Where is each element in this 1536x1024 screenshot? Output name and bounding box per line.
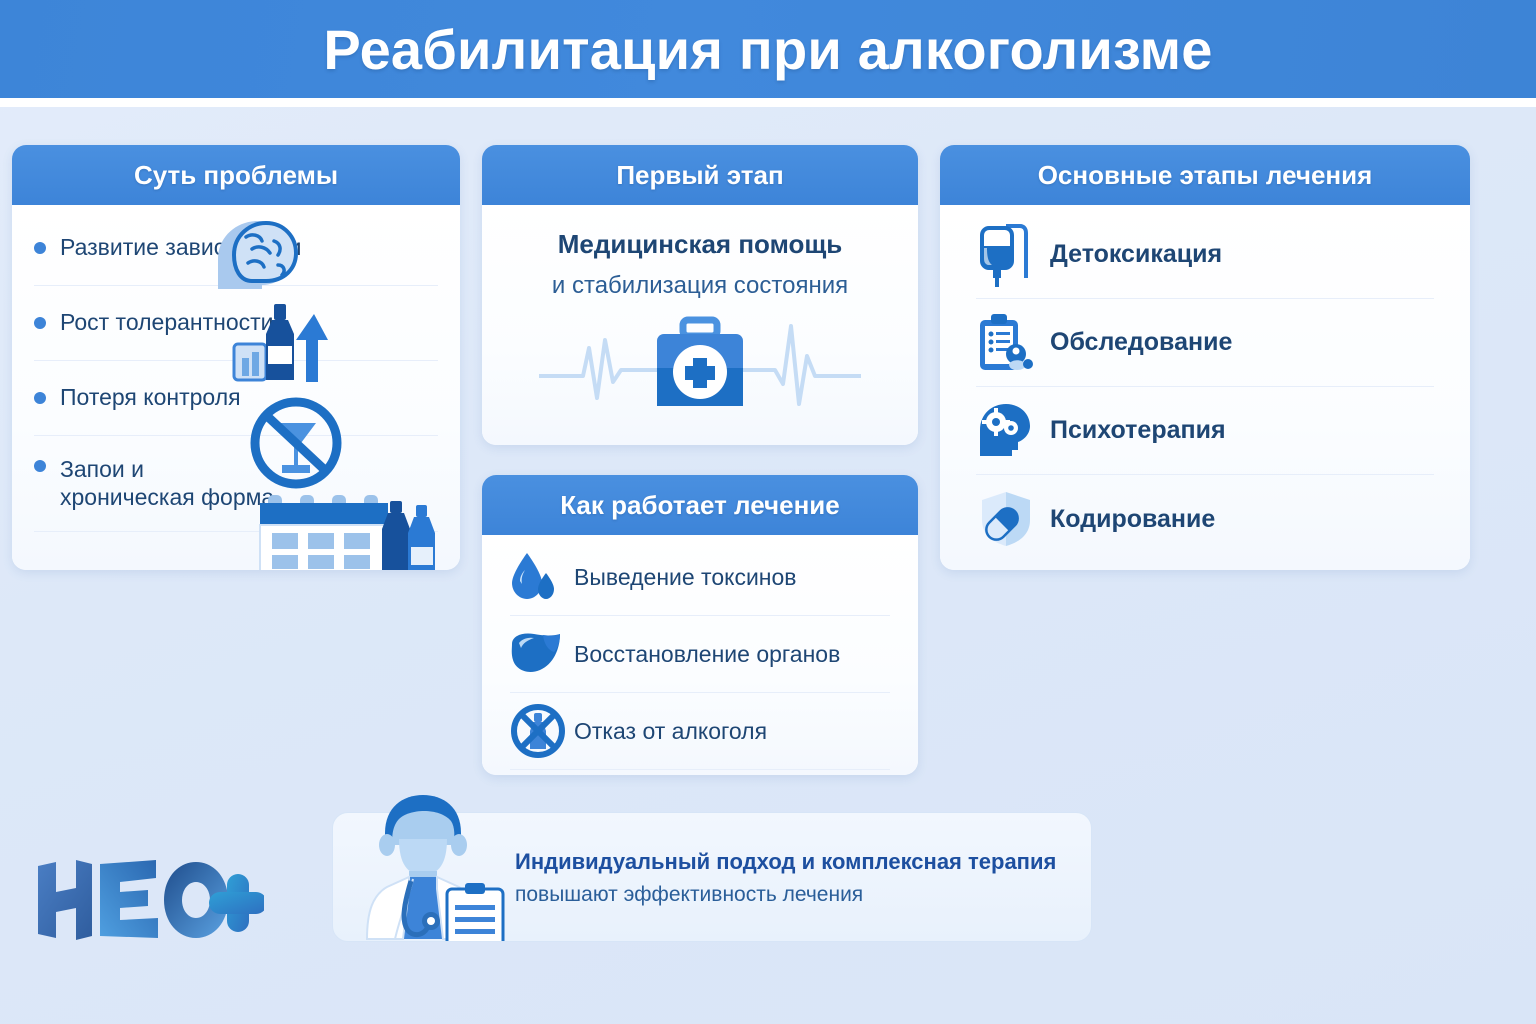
list-item[interactable]: Отказ от алкоголя [510,693,890,770]
list-item-label: Восстановление органов [574,641,840,668]
bottom-banner: Индивидуальный подход и комплексная тера… [332,812,1092,942]
list-item[interactable]: Восстановление органов [510,616,890,693]
bullet-icon [34,242,46,254]
head-gears-icon [976,402,1050,460]
card-problem-header: Суть проблемы [12,145,460,205]
liver-icon [510,632,568,676]
bullet-icon [34,460,46,472]
card-first-stage-body: Медицинская помощь и стабилизация состоя… [482,205,918,445]
how-it-works-list: Выведение токсинов Восстановление органо… [482,535,918,774]
card-main-stages-title: Основные этапы лечения [1038,160,1373,191]
card-problem-body: Развитие зависимости Рост толерантности … [12,205,460,570]
bullet-icon [34,392,46,404]
list-item[interactable]: Развитие зависимости [34,211,438,286]
list-item[interactable]: Выведение токсинов [510,539,890,616]
list-item-label: Запои и хроническая форма [60,456,274,511]
banner-text: Индивидуальный подход и комплексная тера… [515,849,1056,907]
clipboard-checkup-icon [976,312,1050,374]
card-how-it-works-header: Как работает лечение [482,475,918,535]
list-item[interactable]: Детоксикация [976,211,1434,299]
list-item-label: Потеря контроля [60,384,241,412]
list-item-label: Кодирование [1050,505,1215,534]
banner-line1: Индивидуальный подход и комплексная тера… [515,849,1056,875]
card-first-stage-title: Первый этап [616,160,783,191]
iv-drip-icon [976,222,1050,288]
pill-shield-icon [976,490,1050,548]
bullet-icon [34,317,46,329]
main-stages-list: Детоксикация [940,205,1470,569]
card-main-stages-body: Детоксикация [940,205,1470,570]
card-how-it-works: Как работает лечение Выведение токсинов [482,475,918,775]
list-item-label: Отказ от алкоголя [574,718,767,745]
list-item-label: Рост толерантности [60,309,274,337]
card-problem-title: Суть проблемы [134,160,338,191]
title-underline [0,98,1536,107]
list-item-label: Психотерапия [1050,416,1226,445]
no-bottle-circle-icon [510,703,568,759]
list-item[interactable]: Психотерапия [976,387,1434,475]
list-item-label: Выведение токсинов [574,564,797,591]
list-item-label: Детоксикация [1050,240,1222,269]
list-item[interactable]: Обследование [976,299,1434,387]
card-main-stages: Основные этапы лечения Детоксикация [940,145,1470,570]
card-how-it-works-title: Как работает лечение [560,490,839,521]
doctor-clipboard-icon [351,793,521,941]
water-drop-icon [510,551,568,603]
list-item[interactable]: Запои и хроническая форма [34,436,438,532]
banner-line2: повышают эффективность лечения [515,883,1056,907]
first-stage-line1: Медицинская помощь [558,229,843,260]
card-first-stage: Первый этап Медицинская помощь и стабили… [482,145,918,445]
list-item-label: Развитие зависимости [60,234,302,262]
card-problem: Суть проблемы Развитие зависимости Рост … [12,145,460,570]
list-item[interactable]: Потеря контроля [34,361,438,436]
list-item-label: Обследование [1050,328,1232,357]
list-item[interactable]: Кодирование [976,475,1434,563]
card-main-stages-header: Основные этапы лечения [940,145,1470,205]
page-title: Реабилитация при алкоголизме [323,17,1212,82]
page-title-band: Реабилитация при алкоголизме [0,0,1536,98]
card-first-stage-header: Первый этап [482,145,918,205]
list-item[interactable]: Рост толерантности [34,286,438,361]
card-how-it-works-body: Выведение токсинов Восстановление органо… [482,535,918,775]
first-stage-line2: и стабилизация состояния [552,272,848,300]
neo-plus-logo[interactable] [34,858,264,944]
problem-list: Развитие зависимости Рост толерантности … [12,205,460,542]
first-aid-kit-ecg-icon [535,310,865,420]
